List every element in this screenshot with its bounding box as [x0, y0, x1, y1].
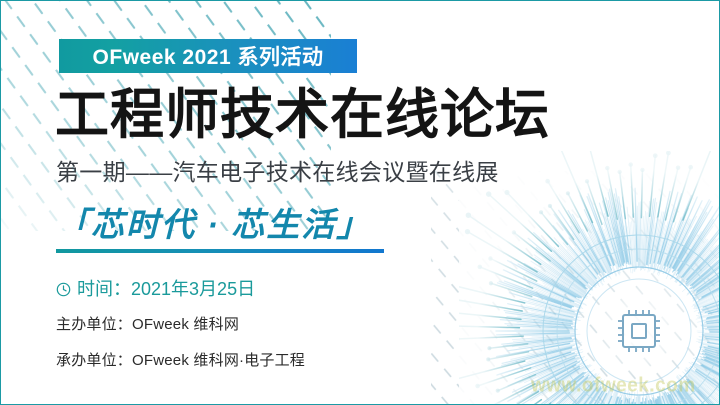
- event-time-row: 时间：2021年3月25日: [56, 275, 255, 301]
- poster-content: OFweek 2021 系列活动 工程师技术在线论坛 第一期——汽车电子技术在线…: [1, 1, 720, 405]
- slogan-divider: [56, 249, 384, 253]
- clock-icon: [56, 281, 71, 296]
- event-series-badge: OFweek 2021 系列活动: [59, 39, 357, 73]
- host-organization: 主办单位：OFweek 维科网: [56, 315, 239, 335]
- organizer-organization: 承办单位：OFweek 维科网·电子工程: [56, 351, 305, 371]
- page-subtitle: 第一期——汽车电子技术在线会议暨在线展: [56, 158, 499, 186]
- slogan-text: 「芯时代 · 芯生活」: [56, 205, 371, 245]
- poster-canvas: www.ofweek.com OFweek 2021 系列活动 工程师技术在线论…: [0, 0, 720, 405]
- page-title: 工程师技术在线论坛: [55, 85, 550, 145]
- event-time-label: 时间：2021年3月25日: [77, 275, 255, 301]
